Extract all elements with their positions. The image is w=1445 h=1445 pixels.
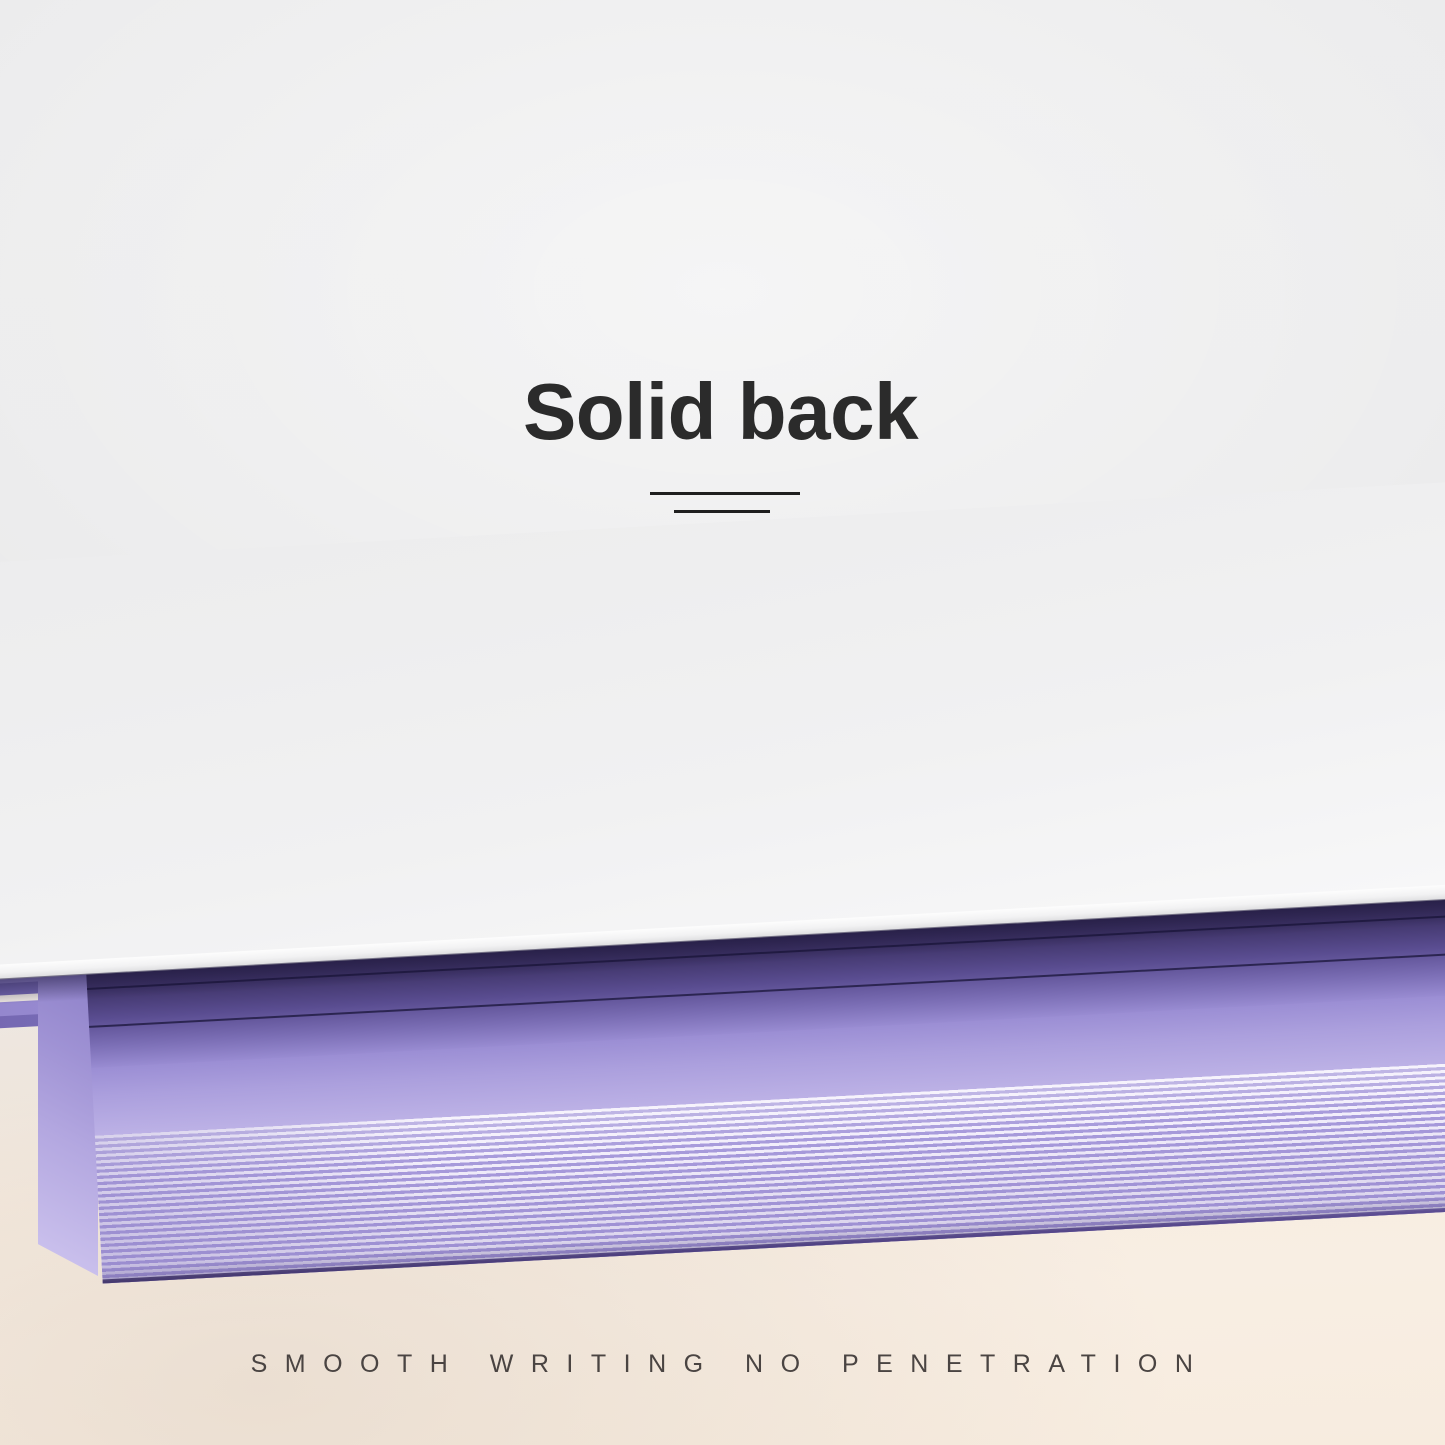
product-image-scene: Solid back: [0, 0, 1445, 1445]
paper-stack: [0, 620, 1445, 1380]
top-white-sheet: [0, 472, 1445, 1010]
tagline: SMOOTH WRITING NO PENETRATION: [8, 1350, 1445, 1379]
